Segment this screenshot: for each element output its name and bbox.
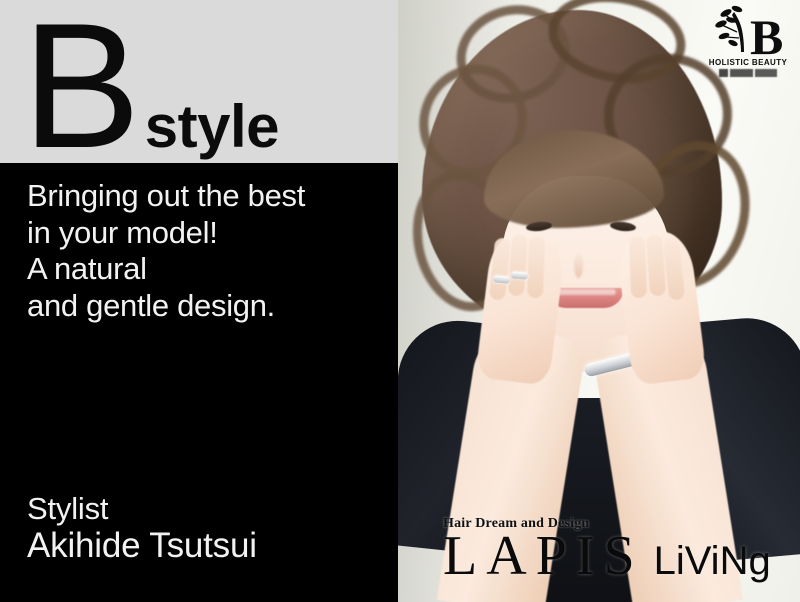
teeth-highlight	[554, 289, 616, 295]
logo-name: LAPIS	[443, 528, 644, 584]
brand-header-band: B style	[0, 0, 398, 163]
logo-suffix: LiViNg	[654, 541, 771, 581]
nose	[574, 252, 583, 278]
badge-subtitle-microtext	[719, 69, 777, 77]
brand-initial: B	[22, 17, 139, 156]
tagline-line-1: Bringing out the best	[27, 178, 387, 215]
svg-text:B: B	[750, 9, 783, 60]
lapis-living-logo: Hair Dream and Design LAPIS LiViNg	[443, 516, 771, 584]
tagline-line-3: A natural	[27, 251, 387, 288]
finger	[629, 236, 647, 299]
holistic-beauty-badge: B HOLISTIC BEAUTY	[704, 4, 792, 92]
tagline-block: Bringing out the best in your model! A n…	[27, 178, 387, 324]
finger	[527, 236, 545, 299]
left-info-panel: B style Bringing out the best in your mo…	[0, 0, 398, 602]
tagline-line-4: and gentle design.	[27, 288, 387, 325]
brand-lockup: B style	[22, 17, 279, 161]
finger-ring	[511, 271, 528, 279]
stylist-name: Akihide Tsutsui	[27, 526, 387, 566]
badge-title: HOLISTIC BEAUTY	[704, 58, 792, 67]
logo-wordmark-row: LAPIS LiViNg	[443, 528, 771, 584]
stylist-role-label: Stylist	[27, 491, 387, 526]
tagline-line-2: in your model!	[27, 215, 387, 252]
salon-promo-banner: B style Bringing out the best in your mo…	[0, 0, 800, 602]
brand-word: style	[145, 92, 279, 161]
stylist-credit: Stylist Akihide Tsutsui	[27, 491, 387, 566]
leafy-branch-letter-b-icon: B	[704, 4, 792, 60]
